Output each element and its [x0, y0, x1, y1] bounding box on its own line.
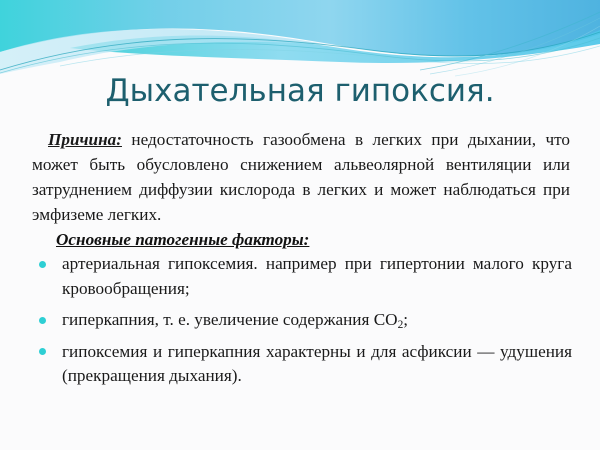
- presentation-slide: Дыхательная гипоксия. Причина: недостато…: [0, 0, 600, 450]
- pathogenic-factors-list: артериальная гипоксемия. например при ги…: [32, 252, 572, 394]
- slide-body: Причина: недостаточность газообмена в ле…: [32, 127, 572, 396]
- list-item: артериальная гипоксемия. например при ги…: [32, 252, 572, 306]
- list-item-text-main: гипоксемия и гиперкапния характерны и дл…: [62, 342, 572, 386]
- factors-heading: Основные патогенные факторы:: [32, 227, 572, 252]
- header-wave-decoration: [0, 0, 600, 78]
- cause-paragraph: Причина: недостаточность газообмена в ле…: [32, 127, 570, 227]
- factors-heading-label: Основные патогенные факторы:: [56, 230, 309, 249]
- list-item-text: гипоксемия и гиперкапния характерны и дл…: [62, 340, 572, 394]
- list-item-text-main: артериальная гипоксемия. например при ги…: [62, 254, 572, 298]
- bullet-dot-icon: [39, 261, 46, 268]
- list-item-text: артериальная гипоксемия. например при ги…: [62, 252, 572, 306]
- list-item: гипоксемия и гиперкапния характерны и дл…: [32, 340, 572, 394]
- slide-title: Дыхательная гипоксия.: [0, 72, 600, 110]
- cause-label: Причина:: [48, 130, 122, 149]
- list-item: гиперкапния, т. е. увеличение содержания…: [32, 308, 572, 338]
- list-item-text: гиперкапния, т. е. увеличение содержания…: [62, 308, 572, 338]
- list-item-text-main: гиперкапния, т. е. увеличение содержания…: [62, 310, 398, 329]
- list-item-text-tail: ;: [403, 310, 408, 329]
- bullet-dot-icon: [39, 317, 46, 324]
- bullet-dot-icon: [39, 348, 46, 355]
